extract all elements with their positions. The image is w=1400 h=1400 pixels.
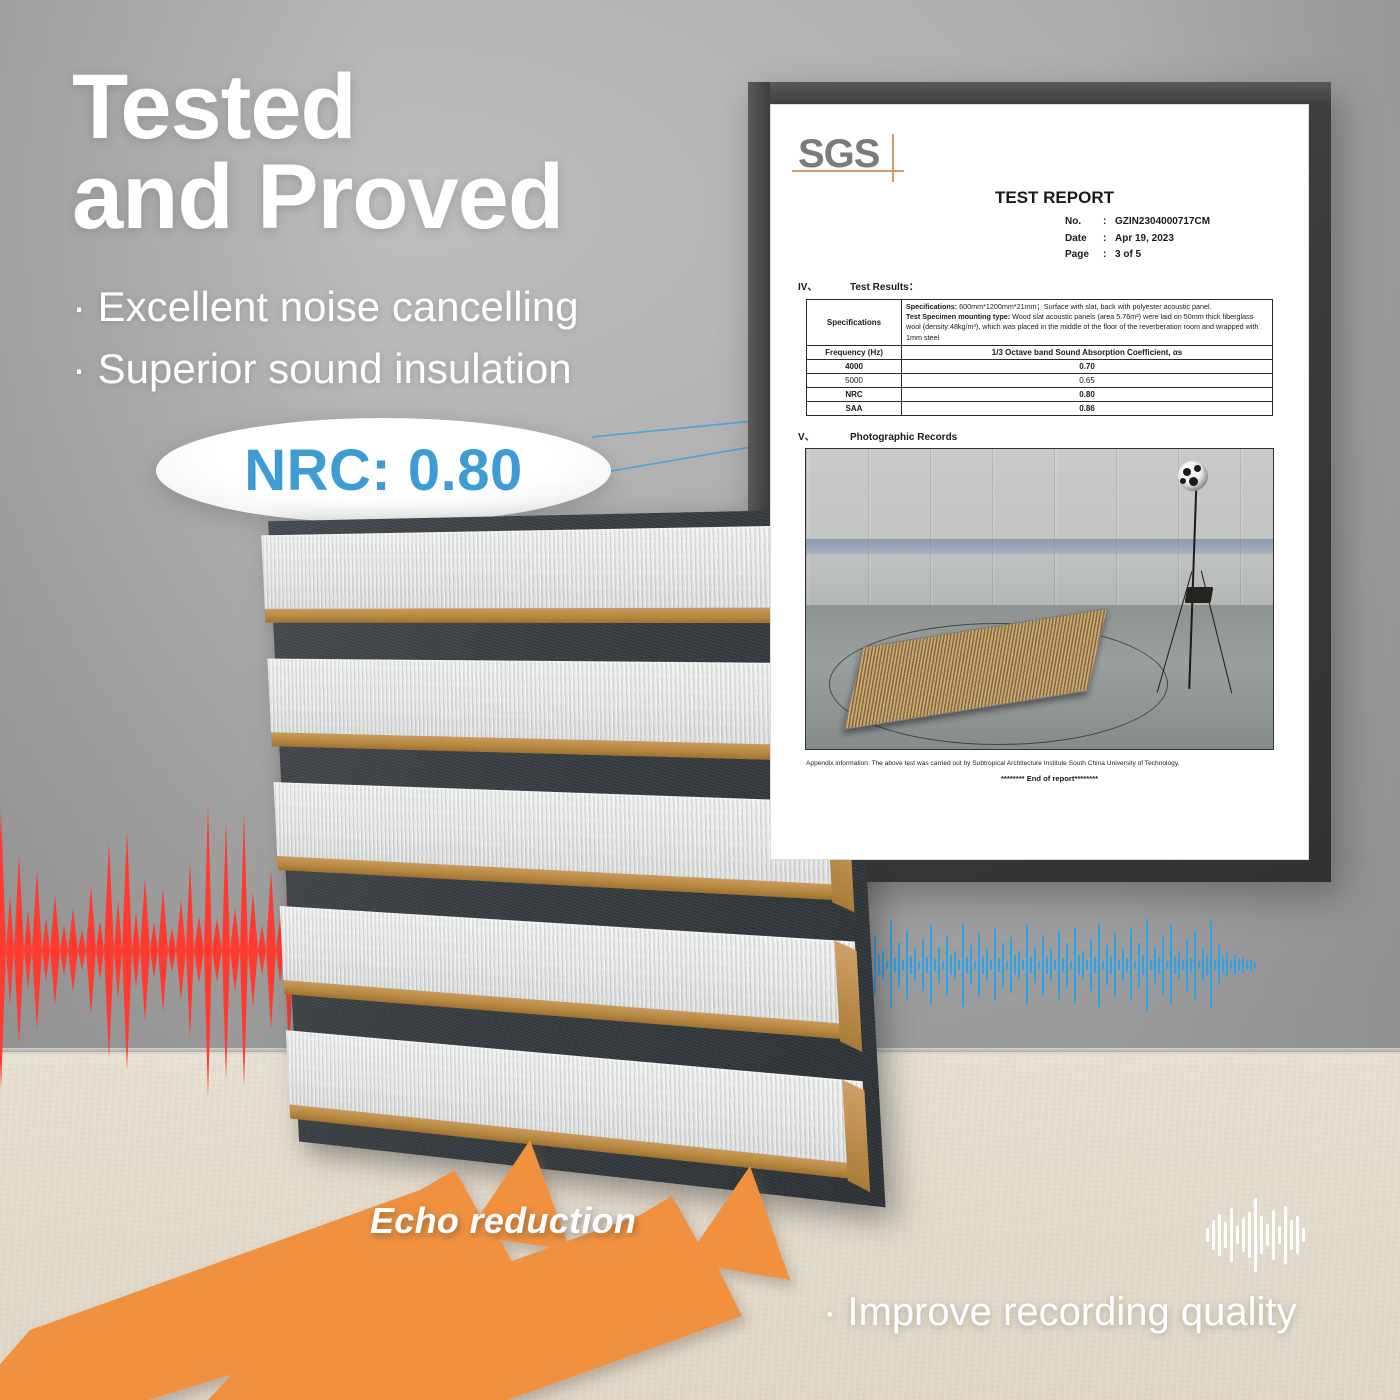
cell-frequency-nrc: NRC — [807, 388, 902, 402]
waveform-white-icon — [1204, 1196, 1312, 1274]
headline-line-1: Tested — [72, 56, 356, 158]
nrc-badge-label: NRC: 0.80 — [244, 437, 522, 504]
table-row-nrc: NRC 0.80 — [807, 388, 1273, 402]
cell-value-nrc: 0.80 — [902, 388, 1273, 402]
feature-bullet-list: · Excellent noise cancelling · Superior … — [72, 276, 712, 400]
certificate-picture-frame: SGS TEST REPORT No.:GZIN2304000717CM Dat… — [748, 82, 1331, 882]
section-test-results: IV、Test Results： — [798, 278, 1289, 293]
dodecahedron-speaker-icon — [1178, 461, 1208, 491]
cell-specifications-text: Specifications: 600mm*1200mm*21mm；Surfac… — [902, 299, 1273, 346]
test-results-table: Specifications Specifications: 600mm*120… — [806, 299, 1273, 417]
appendix-information: Appendix information: The above test was… — [806, 759, 1273, 769]
cell-value: 0.70 — [902, 360, 1273, 374]
echo-reduction-label: Echo reduction — [370, 1200, 636, 1242]
cell-coefficient-header: 1/3 Octave band Sound Absorption Coeffic… — [902, 346, 1273, 360]
acoustic-panel-product — [276, 512, 856, 1172]
table-row: 5000 0.65 — [807, 374, 1273, 388]
panel-slat — [261, 525, 837, 623]
page-title: Tested and Proved — [72, 62, 692, 242]
table-row-header: Frequency (Hz) 1/3 Octave band Sound Abs… — [807, 346, 1273, 360]
cell-frequency: 5000 — [807, 374, 902, 388]
table-row-saa: SAA 0.86 — [807, 402, 1273, 416]
sgs-logo: SGS — [798, 132, 908, 178]
improve-recording-quality-label: · Improve recording quality — [823, 1290, 1297, 1335]
panel-slat — [267, 659, 844, 762]
cell-frequency-saa: SAA — [807, 402, 902, 416]
report-meta-page: Page:3 of 5 — [1065, 247, 1289, 264]
sgs-logo-rule-vertical — [892, 134, 894, 182]
cell-specifications-label: Specifications — [807, 299, 902, 346]
amplifier-unit — [1185, 587, 1214, 603]
product-marketing-banner: Tested and Proved · Excellent noise canc… — [0, 0, 1400, 1400]
arrow-down-right-icon — [0, 1130, 900, 1400]
report-meta-no: No.:GZIN2304000717CM — [1065, 214, 1289, 231]
section-photographic-records: V、Photographic Records — [798, 428, 1289, 443]
report-meta-date: Date:Apr 19, 2023 — [1065, 231, 1289, 248]
cell-value: 0.65 — [902, 374, 1273, 388]
cell-value-saa: 0.86 — [902, 402, 1273, 416]
chamber-wall-stripe — [806, 539, 1273, 554]
cell-frequency-header: Frequency (Hz) — [807, 346, 902, 360]
certificate-page: SGS TEST REPORT No.:GZIN2304000717CM Dat… — [770, 104, 1309, 860]
reverberation-chamber-photo — [805, 448, 1274, 750]
report-title: TEST REPORT — [790, 188, 1289, 208]
report-meta: No.:GZIN2304000717CM Date:Apr 19, 2023 P… — [1065, 214, 1289, 264]
cell-frequency: 4000 — [807, 360, 902, 374]
table-row: 4000 0.70 — [807, 360, 1273, 374]
feature-bullet-sound-insulation: · Superior sound insulation — [72, 338, 712, 400]
headline-line-2: and Proved — [72, 152, 692, 242]
table-row-specifications: Specifications Specifications: 600mm*120… — [807, 299, 1273, 346]
feature-bullet-noise-cancelling: · Excellent noise cancelling — [72, 276, 712, 338]
sgs-logo-rule-horizontal — [792, 170, 904, 172]
end-of-report-marker: ******** End of report******** — [790, 774, 1289, 783]
